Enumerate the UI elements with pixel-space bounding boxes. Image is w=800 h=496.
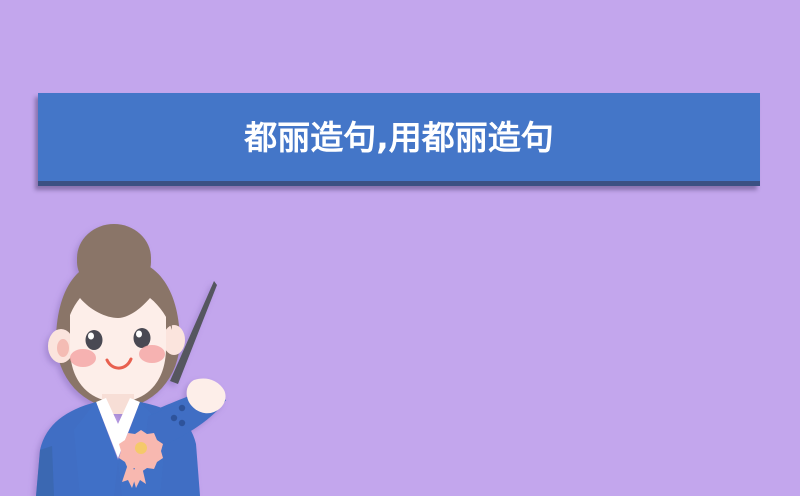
ear-right bbox=[163, 325, 185, 355]
page-root: 都丽造句,用都丽造句 bbox=[0, 0, 800, 496]
title-banner: 都丽造句,用都丽造句 bbox=[38, 93, 760, 186]
page-title: 都丽造句,用都丽造句 bbox=[244, 121, 554, 154]
teacher-illustration bbox=[18, 218, 258, 496]
jacket-shadow bbox=[36, 446, 54, 496]
